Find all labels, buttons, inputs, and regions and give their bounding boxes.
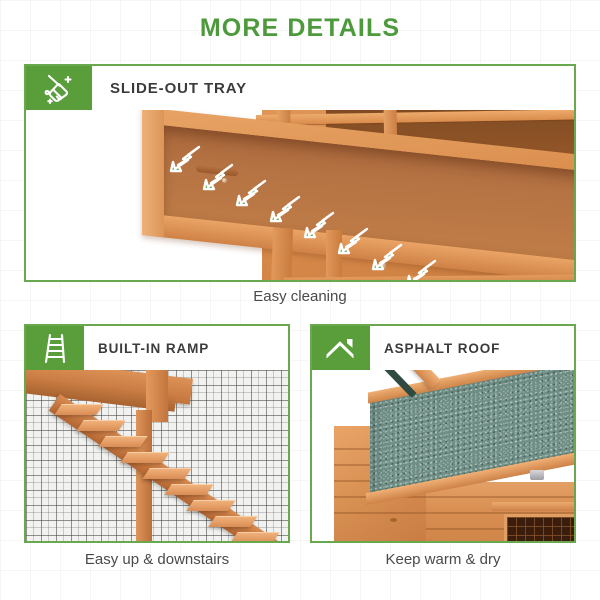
direction-arrow <box>302 210 336 240</box>
badge-slide-out-tray <box>26 66 92 110</box>
wall-plank-seam <box>408 496 574 498</box>
ladder-icon <box>40 332 70 364</box>
ramp-step <box>208 516 257 527</box>
roof-chimney-icon <box>324 335 358 361</box>
slide-out-tray-photo <box>26 110 574 280</box>
card-header-built-in-ramp: BUILT-IN RAMP <box>26 326 290 370</box>
heading-built-in-ramp: BUILT-IN RAMP <box>84 326 290 370</box>
direction-arrow <box>268 194 302 224</box>
ramp-step <box>142 468 191 479</box>
ramp-step <box>164 484 213 495</box>
roof-scene <box>312 370 574 541</box>
ramp-scene <box>26 370 288 541</box>
ramp-step <box>186 500 235 511</box>
tray-left-lip <box>142 110 164 237</box>
asphalt-roof-photo <box>312 370 574 541</box>
badge-asphalt-roof <box>312 326 370 370</box>
direction-arrow <box>234 178 268 208</box>
card-header-asphalt-roof: ASPHALT ROOF <box>312 326 576 370</box>
tray-scene <box>26 110 574 280</box>
heading-slide-out-tray: SLIDE-OUT TRAY <box>92 66 576 110</box>
direction-arrow <box>370 242 404 272</box>
direction-arrow <box>404 258 438 280</box>
broom-sparkle-icon <box>41 71 77 105</box>
feature-card-asphalt-roof: ASPHALT ROOF <box>310 324 576 543</box>
feature-card-built-in-ramp: BUILT-IN RAMP <box>24 324 290 543</box>
page-title: MORE DETAILS <box>0 14 600 43</box>
heading-asphalt-roof: ASPHALT ROOF <box>370 326 576 370</box>
ramp-step <box>120 452 169 463</box>
direction-arrow <box>168 144 202 174</box>
ramp-step <box>54 404 103 415</box>
feature-card-slide-out-tray: SLIDE-OUT TRAY <box>24 64 576 282</box>
card-header-slide-out-tray: SLIDE-OUT TRAY <box>26 66 576 110</box>
wood-knot <box>390 518 397 522</box>
roof-metal-bracket <box>530 470 544 480</box>
coop-leg-left <box>271 228 293 280</box>
mesh-window <box>504 514 574 541</box>
direction-arrow <box>201 162 235 192</box>
badge-built-in-ramp <box>26 326 84 370</box>
ramp-step <box>230 532 279 541</box>
built-in-ramp-photo <box>26 370 288 541</box>
wall-trim-rail <box>492 502 574 511</box>
ramp-step <box>98 436 147 447</box>
direction-arrow <box>336 226 370 256</box>
caption-slide-out-tray: Easy cleaning <box>24 288 576 305</box>
infographic-page: MORE DETAILS <box>0 0 600 600</box>
gable-plank-seam <box>334 512 426 514</box>
caption-asphalt-roof: Keep warm & dry <box>310 551 576 568</box>
ramp-step <box>76 420 125 431</box>
caption-built-in-ramp: Easy up & downstairs <box>24 551 290 568</box>
